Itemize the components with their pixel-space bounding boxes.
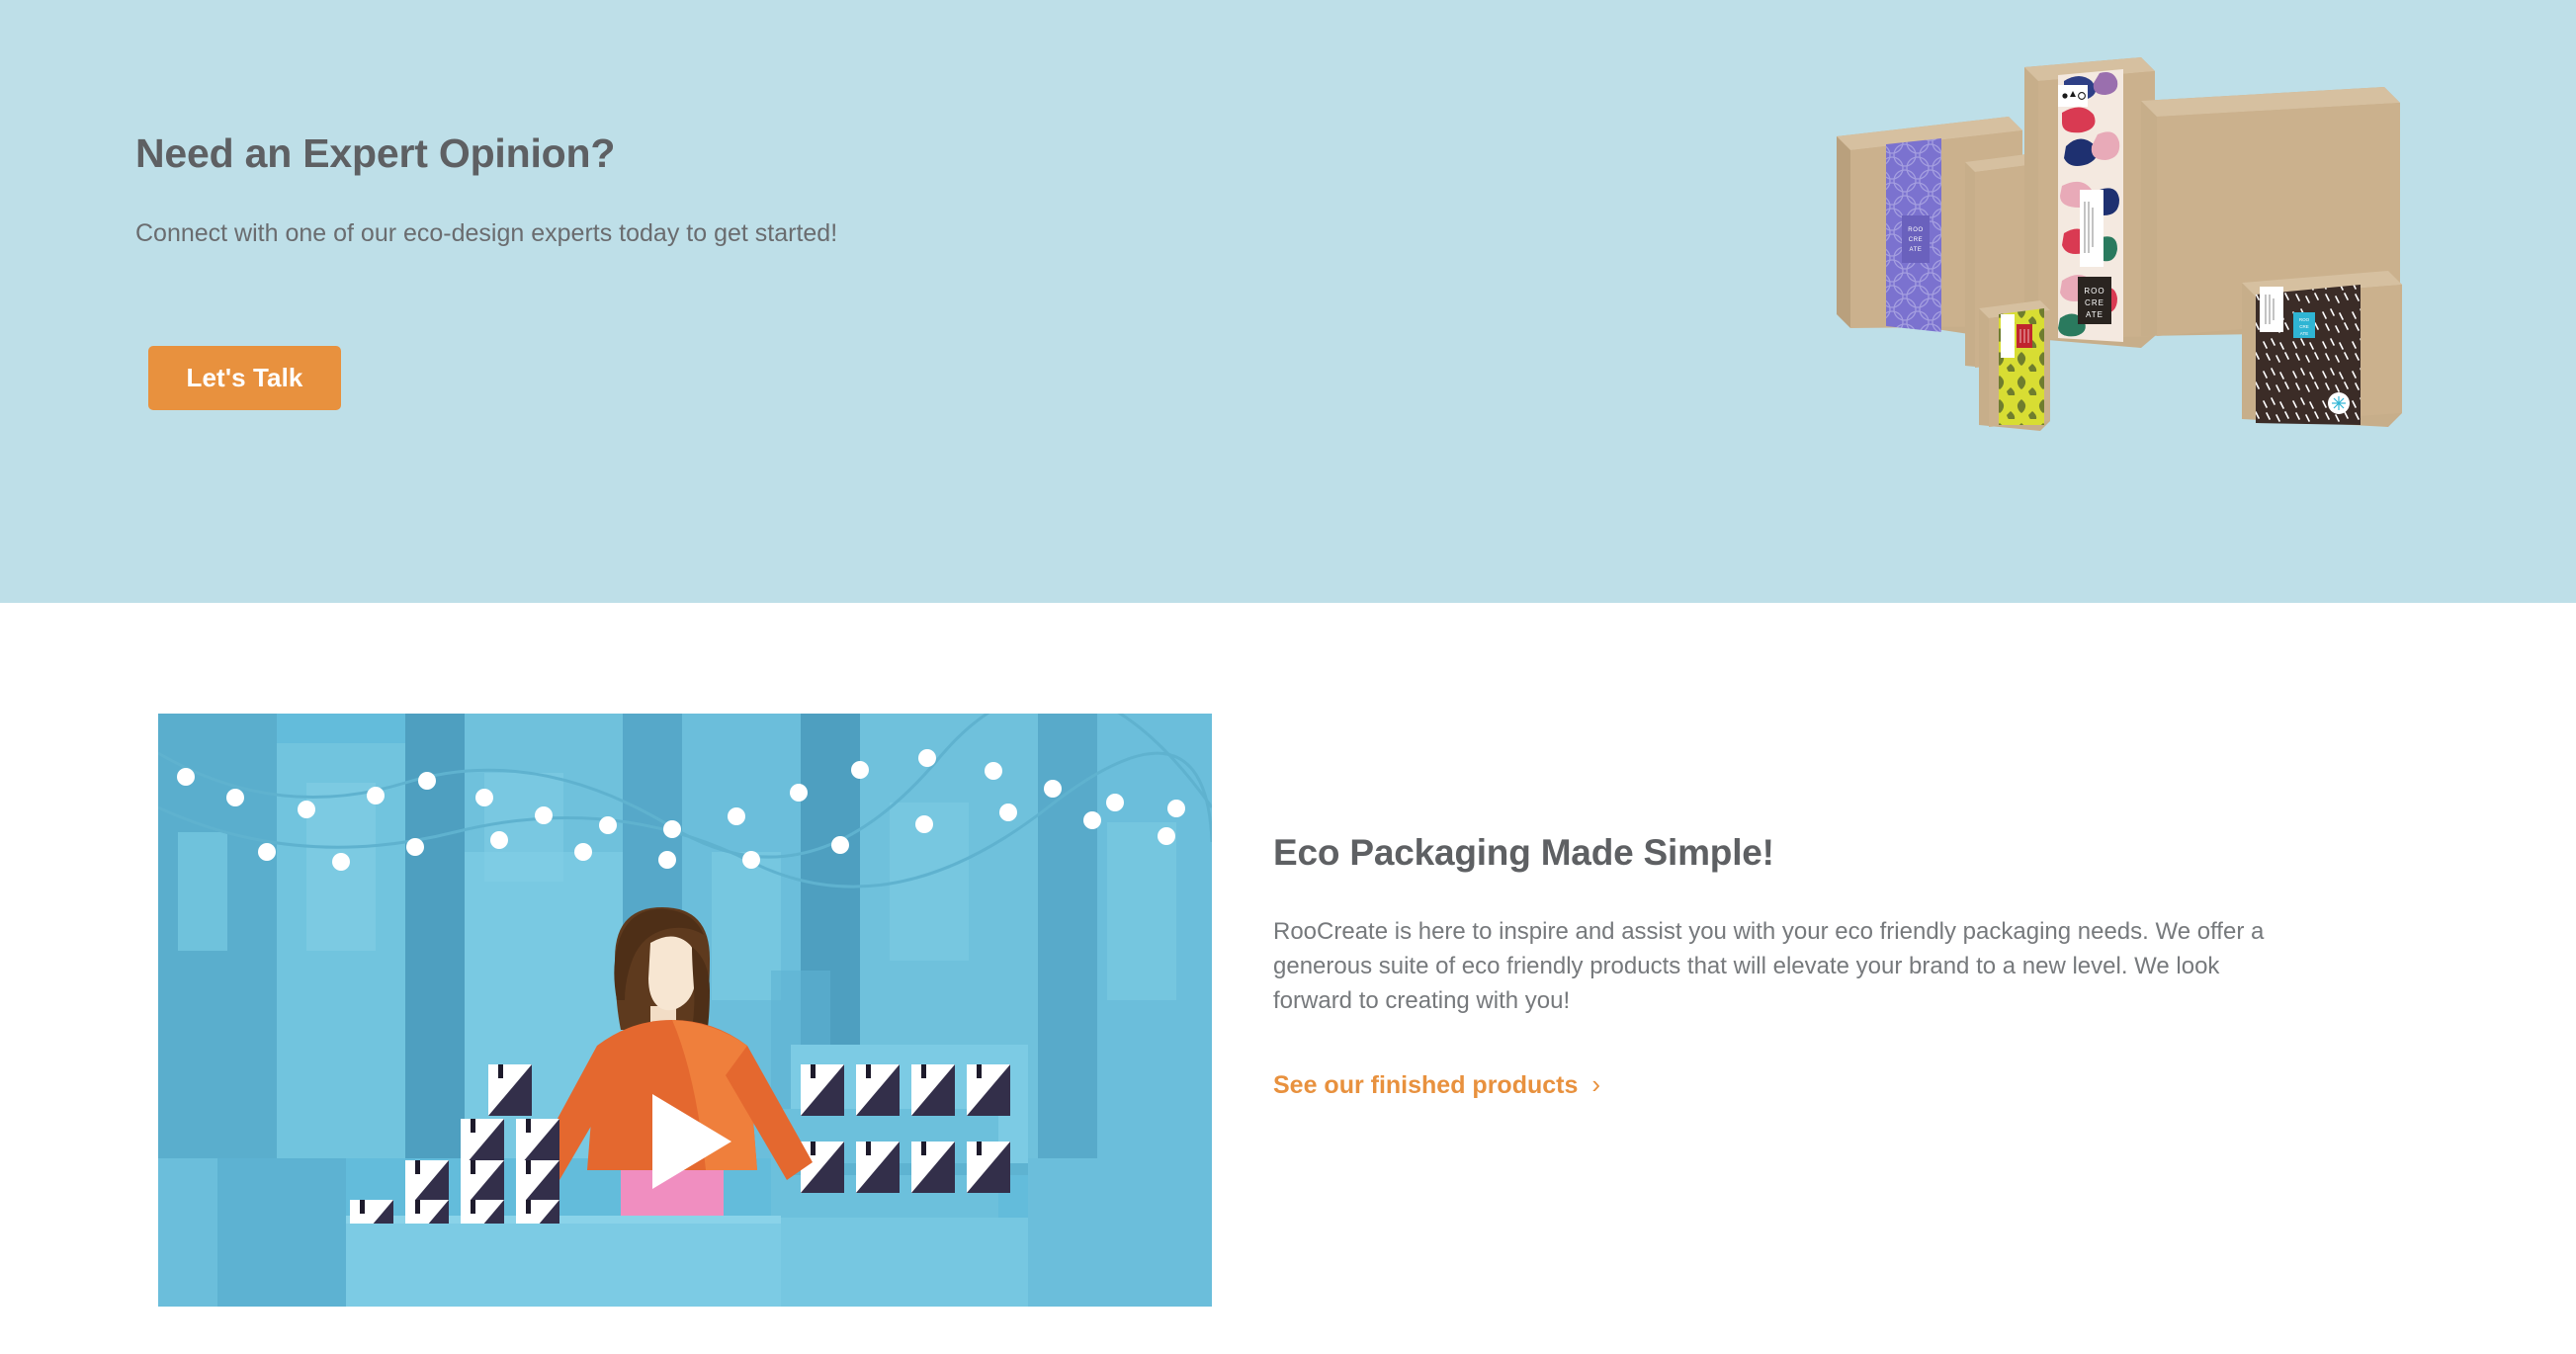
svg-text:ATE: ATE — [2086, 310, 2104, 319]
svg-text:ATE: ATE — [2300, 331, 2308, 336]
hero-subtitle: Connect with one of our eco-design exper… — [135, 216, 1223, 251]
chevron-right-icon: › — [1591, 1069, 1600, 1099]
link-label: See our finished products — [1273, 1071, 1578, 1099]
hero-copy: Need an Expert Opinion? Connect with one… — [135, 129, 1223, 251]
package-yellow — [1979, 300, 2050, 431]
svg-text:ROO: ROO — [2299, 317, 2310, 322]
svg-text:ROO: ROO — [1908, 227, 1923, 233]
package-brown: ROO CRE ATE — [2242, 271, 2402, 427]
packaging-svg: ROO CRE ATE — [1815, 40, 2428, 494]
feature-title: Eco Packaging Made Simple! — [1273, 832, 2321, 874]
see-finished-products-link[interactable]: See our finished products› — [1273, 1069, 1600, 1100]
hero-banner: Need an Expert Opinion? Connect with one… — [0, 0, 2576, 603]
svg-text:CRE: CRE — [2085, 298, 2104, 307]
svg-text:ROO: ROO — [2084, 287, 2104, 296]
svg-text:CRE: CRE — [1909, 237, 1923, 243]
video-thumbnail[interactable] — [158, 714, 1212, 1307]
svg-text:ATE: ATE — [1909, 247, 1922, 253]
lets-talk-button[interactable]: Let's Talk — [148, 346, 341, 410]
feature-text-column: Eco Packaging Made Simple! RooCreate is … — [1273, 832, 2321, 1100]
video-illustration — [158, 714, 1212, 1307]
feature-section: Eco Packaging Made Simple! RooCreate is … — [0, 603, 2576, 1354]
shelf-unit — [771, 1045, 1028, 1218]
svg-text:CRE: CRE — [2299, 324, 2309, 329]
hero-title: Need an Expert Opinion? — [135, 129, 1223, 177]
packaging-illustration: ROO CRE ATE — [1815, 40, 2428, 494]
feature-body: RooCreate is here to inspire and assist … — [1273, 915, 2291, 1018]
